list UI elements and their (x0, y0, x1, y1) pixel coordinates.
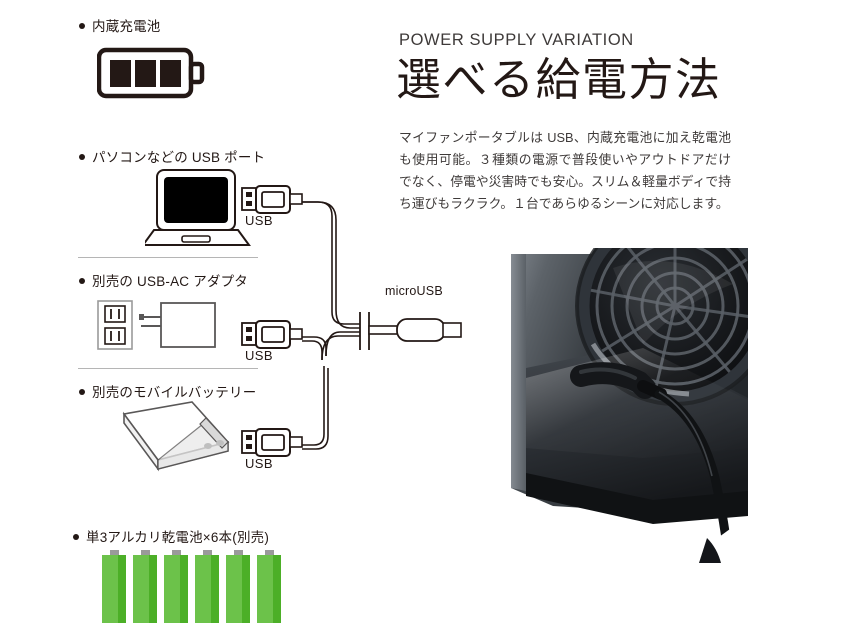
microusb-label: microUSB (385, 284, 443, 298)
bullet-icon (79, 389, 85, 395)
usb-connector-label-1: USB (245, 213, 273, 228)
laptop-icon (145, 168, 251, 248)
aa-batteries-icon (100, 548, 290, 626)
ac-adapter-icon (97, 300, 227, 352)
page-title: 選べる給電方法 (396, 55, 722, 105)
usb-connector-label-2: USB (245, 348, 273, 363)
power-bank-icon (96, 398, 236, 473)
usb-connector-3 (242, 429, 302, 456)
infographic-canvas: POWER SUPPLY VARIATION 選べる給電方法 マイファンポータブ… (0, 0, 846, 640)
usb-connector-2 (242, 321, 302, 348)
usb-connector-1 (242, 186, 302, 213)
source-label-pc-usb-port: パソコンなどの USB ポート (79, 146, 265, 166)
divider-2 (78, 368, 258, 369)
cable-harness (240, 180, 470, 470)
microusb-plug (369, 319, 461, 341)
bullet-icon (79, 278, 85, 284)
source-label-dry-cells: 単3アルカリ乾電池×6本(別売) (73, 526, 269, 546)
product-photo (493, 248, 748, 563)
divider-1 (78, 257, 258, 258)
bullet-icon (79, 23, 85, 29)
source-label-usb-ac-adapter: 別売の USB-AC アダプタ (79, 270, 248, 290)
bullet-icon (79, 154, 85, 160)
usb-connector-label-3: USB (245, 456, 273, 471)
source-label-internal-battery: 内蔵充電池 (79, 15, 161, 35)
battery-icon (97, 46, 207, 101)
eyebrow-heading: POWER SUPPLY VARIATION (399, 31, 634, 50)
bullet-icon (73, 534, 79, 540)
